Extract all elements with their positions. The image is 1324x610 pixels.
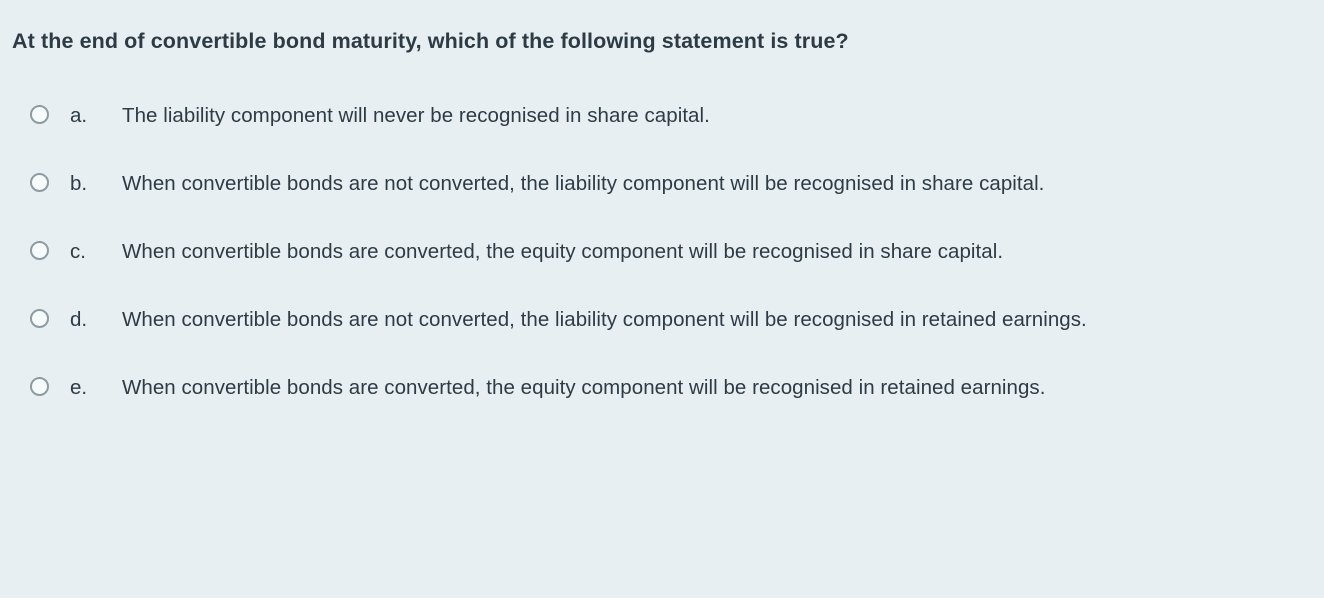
answer-text-b[interactable]: When convertible bonds are not converted… (122, 164, 1274, 204)
answer-letter-d: d. (70, 300, 122, 340)
radio-button-icon[interactable] (30, 309, 49, 328)
radio-button-icon[interactable] (30, 173, 49, 192)
question-stem: At the end of convertible bond maturity,… (12, 28, 1302, 55)
answer-option-e[interactable]: e. When convertible bonds are converted,… (0, 368, 1324, 408)
answer-letter-c: c. (70, 232, 122, 272)
answer-option-d[interactable]: d. When convertible bonds are not conver… (0, 300, 1324, 340)
question-panel: At the end of convertible bond maturity,… (0, 0, 1324, 598)
radio-cell-b[interactable] (30, 164, 70, 192)
radio-button-icon[interactable] (30, 377, 49, 396)
answer-letter-a: a. (70, 96, 122, 136)
answer-text-e[interactable]: When convertible bonds are converted, th… (122, 368, 1274, 408)
answer-letter-e: e. (70, 368, 122, 408)
radio-cell-e[interactable] (30, 368, 70, 396)
radio-cell-a[interactable] (30, 96, 70, 124)
page-footer-strip (0, 598, 1324, 610)
answer-text-a[interactable]: The liability component will never be re… (122, 96, 1274, 136)
radio-cell-d[interactable] (30, 300, 70, 328)
answer-options-list: a. The liability component will never be… (0, 96, 1324, 436)
answer-option-b[interactable]: b. When convertible bonds are not conver… (0, 164, 1324, 204)
answer-option-a[interactable]: a. The liability component will never be… (0, 96, 1324, 136)
answer-text-d[interactable]: When convertible bonds are not converted… (122, 300, 1274, 340)
radio-button-icon[interactable] (30, 241, 49, 260)
radio-cell-c[interactable] (30, 232, 70, 260)
answer-letter-b: b. (70, 164, 122, 204)
answer-text-c[interactable]: When convertible bonds are converted, th… (122, 232, 1274, 272)
radio-button-icon[interactable] (30, 105, 49, 124)
answer-option-c[interactable]: c. When convertible bonds are converted,… (0, 232, 1324, 272)
